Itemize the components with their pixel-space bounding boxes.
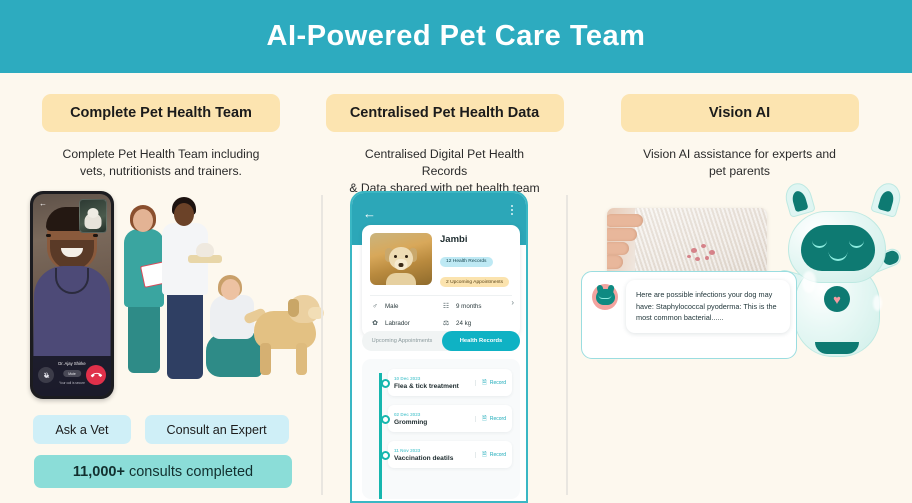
page-title: AI-Powered Pet Care Team — [267, 20, 646, 53]
bot-avatar-face — [596, 289, 615, 305]
call-secure-label: Your call is secure — [59, 381, 85, 385]
column1-pill-header: Complete Pet Health Team — [42, 94, 280, 132]
pet-attribute-breed: ✿ Labrador — [370, 319, 441, 329]
timeline-dot — [381, 379, 390, 388]
trainer-legs — [167, 293, 203, 379]
vet-eye-left — [46, 234, 51, 237]
pet-name: Jambi — [440, 234, 512, 245]
column3-subtitle-line2: pet parents — [587, 163, 892, 180]
dog-ear — [288, 299, 299, 317]
column2-subtitle: Centralised Digital Pet Health Records &… — [322, 146, 567, 197]
column-centralised-pet-health-data: Centralised Pet Health Data Centralised … — [322, 73, 567, 503]
skin-spot — [687, 255, 691, 258]
column3-subtitle: Vision AI assistance for experts and pet… — [567, 146, 912, 180]
column1-subtitle-line2: vets, nutritionists and trainers. — [20, 163, 302, 180]
page-header: AI-Powered Pet Care Team — [0, 0, 912, 73]
kebab-menu-icon[interactable] — [511, 205, 513, 217]
mascot-face-screen — [801, 225, 875, 271]
consults-completed-stat: 11,000+ consults completed — [34, 455, 292, 488]
column3-visual: ♥ — [567, 191, 912, 491]
pet-app-phone-mockup: ← — [350, 191, 528, 503]
skin-spot — [705, 256, 709, 260]
column1-subtitle-line1: Complete Pet Health Team including — [20, 146, 302, 163]
mascot-ear-inner-left — [791, 190, 809, 213]
pet-photo-dog-eye-left — [394, 255, 397, 258]
timeline-item-title: Vaccination deatils — [394, 455, 453, 462]
phone-hangup-icon[interactable] — [86, 365, 106, 385]
tab-health-records[interactable]: Health Records — [442, 331, 520, 351]
timeline-item-title: Flea & tick treatment — [394, 383, 459, 390]
human-hand — [607, 212, 651, 278]
timeline-record-button[interactable]: 🗎 Record — [475, 380, 506, 386]
pet-age-value: 9 months — [456, 303, 481, 310]
dog-back-leg — [260, 343, 271, 375]
pet-attribute-gender: ♂ Male — [370, 302, 441, 312]
timeline-item-text: 10 Dec 2023 Flea & tick treatment — [394, 376, 459, 390]
pet-attributes-grid: ♂ Male ☷ 9 months ✿ Labrador — [370, 295, 512, 329]
timeline-item[interactable]: 10 Dec 2023 Flea & tick treatment 🗎 Reco… — [388, 369, 512, 396]
finger — [607, 228, 637, 241]
skin-spot — [709, 250, 715, 255]
tab-upcoming-appointments[interactable]: Upcoming Appointments — [362, 338, 442, 344]
timeline-item-date: 11 Nov 2023 — [394, 448, 453, 453]
timeline-item-text: 11 Nov 2023 Vaccination deatils — [394, 448, 453, 462]
ask-a-vet-button[interactable]: Ask a Vet — [33, 415, 130, 444]
consults-count: 11,000+ — [73, 464, 125, 480]
app-tab-toggle: Upcoming Appointments Health Records — [362, 331, 520, 351]
columns-container: Complete Pet Health Team Complete Pet He… — [0, 73, 912, 503]
pet-attribute-age: ☷ 9 months — [441, 302, 512, 312]
mascot-ear-inner-right — [877, 190, 895, 213]
pet-card-top: Jambi 12 Health Records 2 Upcoming Appoi… — [370, 233, 512, 288]
dog-skin-closeup-photo — [607, 208, 767, 280]
column3-subtitle-line1: Vision AI assistance for experts and — [587, 146, 892, 163]
nurse-legs — [128, 305, 160, 373]
pet-info: Jambi 12 Health Records 2 Upcoming Appoi… — [440, 233, 512, 288]
heart-icon: ♥ — [833, 293, 841, 306]
paw-icon: ✿ — [370, 319, 380, 329]
chevron-right-icon[interactable]: › — [511, 299, 514, 307]
consults-label: consults completed — [129, 464, 253, 480]
back-arrow-icon[interactable]: ← — [39, 200, 47, 208]
calendar-icon: ☷ — [441, 302, 451, 312]
mascot-smile — [829, 251, 848, 261]
upcoming-appointments-badge[interactable]: 2 Upcoming Appointments — [440, 277, 509, 287]
timeline-record-button[interactable]: 🗎 Record — [475, 416, 506, 422]
timeline-item-title: Gromming — [394, 419, 427, 426]
bot-avatar-eyes — [599, 295, 612, 299]
call-chip-label[interactable]: Mute — [63, 370, 81, 377]
call-control-bar: Dr. Ajay Shirke Mute Your call is secure — [33, 356, 111, 396]
finger — [607, 255, 623, 269]
mascot-eye-left — [812, 240, 827, 248]
weight-icon: ⚖ — [441, 319, 451, 329]
mascot-foot — [815, 342, 859, 354]
golden-retriever-dog — [248, 293, 324, 377]
mascot-body-highlight — [873, 295, 882, 311]
column2-subtitle-line1: Centralised Digital Pet Health Records — [342, 146, 547, 180]
infographic-page: AI-Powered Pet Care Team Complete Pet He… — [0, 0, 912, 503]
pet-breed-value: Labrador — [385, 320, 410, 327]
pet-attribute-weight: ⚖ 24 kg — [441, 319, 512, 329]
caller-name: Dr. Ajay Shirke — [58, 361, 85, 366]
trainer-head — [174, 203, 194, 226]
nutritionist-head — [221, 279, 240, 300]
mascot-body-highlight — [802, 271, 816, 293]
column1-subtitle: Complete Pet Health Team including vets,… — [0, 146, 322, 180]
document-icon: 🗎 — [482, 452, 487, 458]
column3-pill-header: Vision AI — [621, 94, 859, 132]
bot-avatar-icon — [592, 284, 618, 310]
timeline-record-label: Record — [490, 452, 506, 458]
vision-ai-chat-message: Here are possible infections your dog ma… — [626, 280, 790, 333]
mic-off-icon[interactable] — [38, 367, 54, 383]
document-icon: 🗎 — [482, 416, 487, 422]
pip-dog-head — [88, 208, 99, 218]
mascot-ear-right — [870, 180, 904, 218]
mascot-head — [788, 211, 886, 283]
vision-ai-chat-panel: Here are possible infections your dog ma… — [581, 271, 797, 359]
timeline-row[interactable]: 11 Nov 2023 Vaccination deatils 🗎 Record — [388, 441, 512, 468]
skin-spot — [691, 248, 697, 253]
timeline-record-button[interactable]: 🗎 Record — [475, 452, 506, 458]
column2-visual: ← — [322, 191, 567, 503]
timeline-item-text: 02 Dec 2023 Gromming — [394, 412, 427, 426]
skin-spot — [701, 244, 706, 248]
column-vision-ai: Vision AI Vision AI assistance for exper… — [567, 73, 912, 503]
timeline-item[interactable]: 11 Nov 2023 Vaccination deatils 🗎 Record — [388, 441, 512, 468]
pet-photo-dog-body — [386, 273, 416, 285]
timeline-dot — [381, 415, 390, 424]
gender-male-icon: ♂ — [370, 302, 380, 312]
pet-photo-dog-eye-right — [405, 255, 408, 258]
health-records-badge[interactable]: 12 Health Records — [440, 257, 493, 267]
video-call-screen: ← — [33, 194, 111, 396]
pet-gender-value: Male — [385, 303, 398, 310]
column2-pill-header: Centralised Pet Health Data — [326, 94, 564, 132]
timeline-item-date: 10 Dec 2023 — [394, 376, 459, 381]
pip-dog-video — [79, 199, 107, 233]
skin-spot — [695, 257, 700, 261]
pet-health-team-photo-group — [100, 197, 322, 402]
health-records-timeline: 10 Dec 2023 Flea & tick treatment 🗎 Reco… — [362, 359, 520, 499]
column1-visual: ← — [0, 191, 322, 406]
document-icon: 🗎 — [482, 380, 487, 386]
timeline-item[interactable]: 02 Dec 2023 Gromming 🗎 Record — [388, 405, 512, 432]
column1-action-buttons: Ask a Vet Consult an Expert — [0, 415, 322, 444]
mascot-chest-badge: ♥ — [824, 286, 850, 312]
robot-cat-mascot: ♥ — [778, 199, 908, 379]
dog-fur — [635, 208, 767, 280]
timeline-row[interactable]: 10 Dec 2023 Flea & tick treatment 🗎 Reco… — [388, 369, 512, 396]
pet-profile-card: Jambi 12 Health Records 2 Upcoming Appoi… — [362, 225, 520, 337]
cat-on-tray — [196, 243, 214, 257]
pet-photo-labrador — [370, 233, 432, 285]
mascot-eye-right — [849, 240, 864, 248]
video-call-phone-mockup: ← — [30, 191, 114, 399]
timeline-dot — [381, 451, 390, 460]
timeline-row[interactable]: 02 Dec 2023 Gromming 🗎 Record — [388, 405, 512, 432]
pet-weight-value: 24 kg — [456, 320, 471, 327]
timeline-line — [379, 373, 382, 499]
pet-photo-dog-nose — [399, 263, 404, 267]
dog-front-leg — [296, 343, 307, 375]
timeline-record-label: Record — [490, 380, 506, 386]
timeline-item-date: 02 Dec 2023 — [394, 412, 427, 417]
timeline-record-label: Record — [490, 416, 506, 422]
back-arrow-icon[interactable]: ← — [363, 207, 376, 220]
nurse-head — [133, 209, 153, 232]
finger — [607, 242, 629, 255]
vet-eye-right — [93, 234, 98, 237]
finger — [607, 214, 643, 227]
mascot-ear-left — [782, 180, 816, 218]
consult-an-expert-button[interactable]: Consult an Expert — [145, 415, 289, 444]
column-complete-pet-health-team: Complete Pet Health Team Complete Pet He… — [0, 73, 322, 503]
